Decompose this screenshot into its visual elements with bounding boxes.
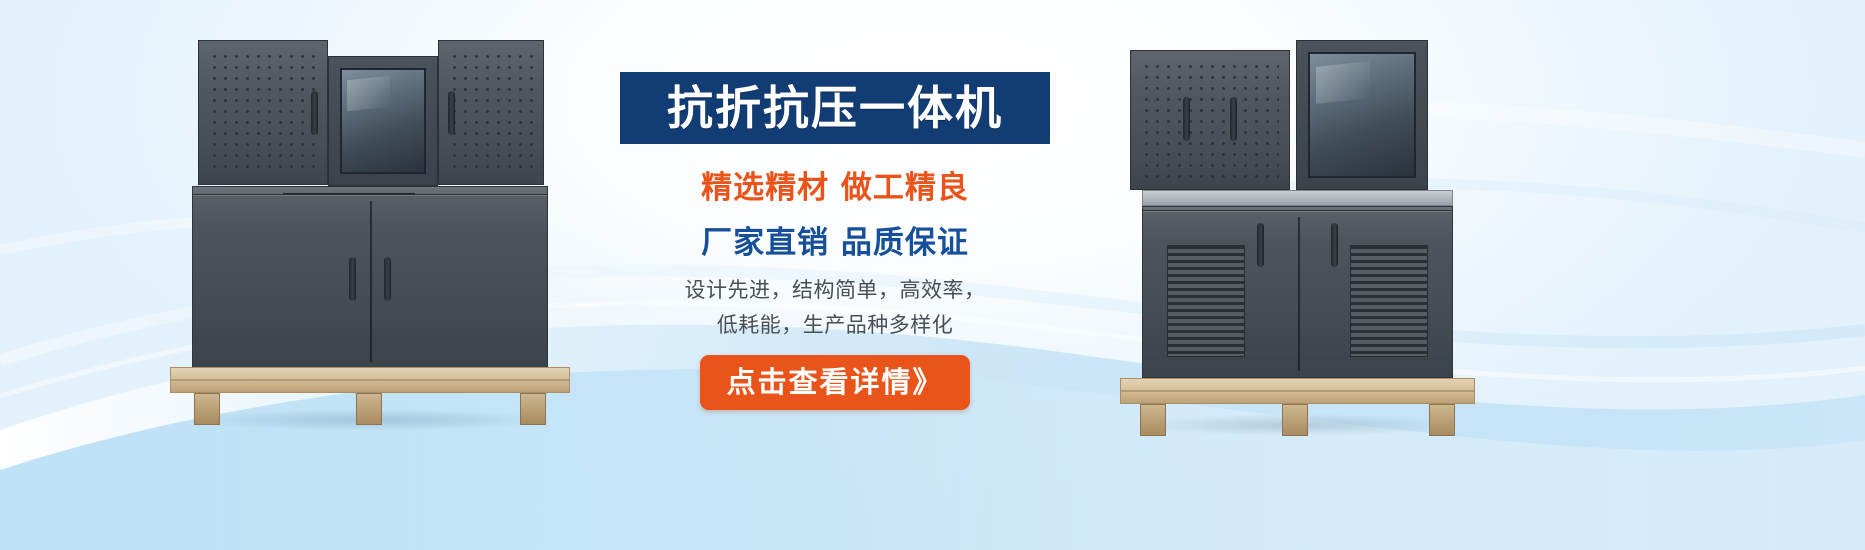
perforation-pattern	[209, 51, 317, 174]
pallet-leg	[1429, 404, 1455, 436]
left-perforated-door-b	[438, 40, 544, 185]
description-line-2: 低耗能，生产品种多样化	[620, 309, 1050, 342]
product-image-right	[1120, 40, 1475, 430]
left-display-screen	[340, 68, 426, 174]
banner-copy-block: 抗折抗压一体机 精选精材 做工精良 厂家直销 品质保证 设计先进，结构简单，高效…	[620, 72, 1060, 410]
page-title: 抗折抗压一体机	[667, 85, 1003, 131]
subtitle-blue: 厂家直销 品质保证	[620, 217, 1050, 262]
pallet-leg	[194, 393, 220, 425]
door-handle-icon	[448, 91, 455, 135]
cabinet-door-split	[1298, 217, 1300, 371]
product-image-left	[170, 40, 570, 425]
pallet-board	[1120, 378, 1475, 404]
right-perforated-door	[1130, 50, 1290, 190]
right-machine-plinth	[1142, 190, 1453, 206]
right-display-screen	[1308, 52, 1416, 178]
right-main-cabinet	[1142, 210, 1453, 378]
perforation-pattern	[1141, 61, 1279, 179]
cabinet-handle-icon	[1331, 223, 1338, 267]
ventilation-grille	[1167, 245, 1245, 357]
left-control-screen-housing	[328, 56, 438, 186]
perforation-pattern	[449, 51, 533, 174]
right-control-screen-housing	[1296, 40, 1428, 190]
description-line-1: 设计先进，结构简单，高效率，	[620, 274, 1050, 307]
pallet-leg	[520, 393, 546, 425]
ventilation-grille	[1350, 245, 1428, 357]
pallet-board	[170, 367, 570, 393]
headline-bar: 抗折抗压一体机	[620, 72, 1050, 144]
left-main-cabinet	[192, 194, 548, 369]
subtitle-orange: 精选精材 做工精良	[620, 162, 1050, 207]
cabinet-door-split	[370, 201, 372, 362]
left-perforated-door-a	[198, 40, 328, 185]
pallet-leg	[1282, 404, 1308, 436]
view-details-button[interactable]: 点击查看详情》	[700, 355, 969, 409]
pallet-leg	[1140, 404, 1166, 436]
left-wooden-pallet	[170, 367, 570, 425]
cabinet-handle-icon	[384, 257, 391, 301]
door-handle-icon	[311, 91, 318, 135]
door-handle-icon	[1183, 97, 1190, 141]
cabinet-handle-icon	[1257, 223, 1264, 267]
right-wooden-pallet	[1120, 378, 1475, 430]
promo-banner: 抗折抗压一体机 精选精材 做工精良 厂家直销 品质保证 设计先进，结构简单，高效…	[0, 0, 1865, 550]
door-handle-icon	[1230, 97, 1237, 141]
cta-container: 点击查看详情》	[620, 355, 1050, 409]
pallet-leg	[356, 393, 382, 425]
cabinet-handle-icon	[349, 257, 356, 301]
